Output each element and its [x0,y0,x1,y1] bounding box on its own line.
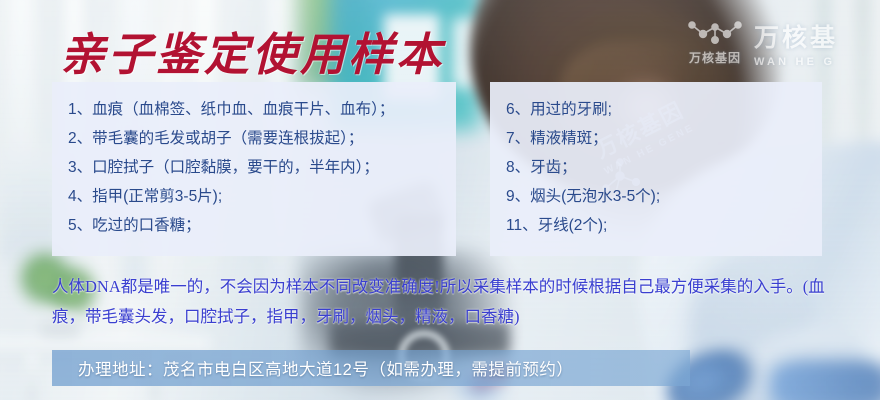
sample-list-left: 1、血痕（血棉签、纸巾血、血痕干片、血布）； 2、带毛囊的毛发或胡子（需要连根拔… [68,95,440,240]
list-item: 7、精液精斑； [506,124,806,153]
address-banner: 办理地址：茂名市电白区高地大道12号（如需办理，需提前预约） [52,350,690,386]
brand-wordmark: 万核基 WAN HE G [754,18,838,68]
list-item: 4、指甲(正常剪3-5片); [68,182,440,211]
explanation-paragraph: 人体DNA都是唯一的，不会因为样本不同改变准确度!所以采集样本的时候根据自己最方… [52,272,842,332]
molecule-logo-icon: 万核基因 [688,20,742,66]
page-title: 亲子鉴定使用样本 [60,18,444,83]
brand-watermark-top: 万核基因 万核基 WAN HE G [688,18,838,68]
address-banner-text: 办理地址：茂名市电白区高地大道12号（如需办理，需提前预约） [52,356,573,380]
list-item: 5、吃过的口香糖； [68,211,440,240]
list-item: 9、烟头(无泡水3-5个); [506,182,806,211]
list-item: 8、牙齿； [506,153,806,182]
list-item: 3、口腔拭子（口腔黏膜，要干的，半年内）； [68,153,440,182]
brand-name-english: WAN HE G [754,56,838,68]
list-item: 2、带毛囊的毛发或胡子（需要连根拔起）； [68,124,440,153]
list-item: 1、血痕（血棉签、纸巾血、血痕干片、血布）； [68,95,440,124]
sample-list-panel-right: 6、用过的牙刷; 7、精液精斑； 8、牙齿； 9、烟头(无泡水3-5个); 11… [490,82,822,256]
sample-list-panel-left: 1、血痕（血棉签、纸巾血、血痕干片、血布）； 2、带毛囊的毛发或胡子（需要连根拔… [52,82,456,256]
list-item: 11、牙线(2个); [506,211,806,240]
list-item: 6、用过的牙刷; [506,95,806,124]
brand-name-large: 万核基 [754,18,838,54]
poster-canvas: 万核基因 万核基 WAN HE G 万核基因 WAN HE GENE [0,0,880,400]
brand-name-small: 万核基因 [689,49,741,66]
sample-list-right: 6、用过的牙刷; 7、精液精斑； 8、牙齿； 9、烟头(无泡水3-5个); 11… [506,95,806,240]
